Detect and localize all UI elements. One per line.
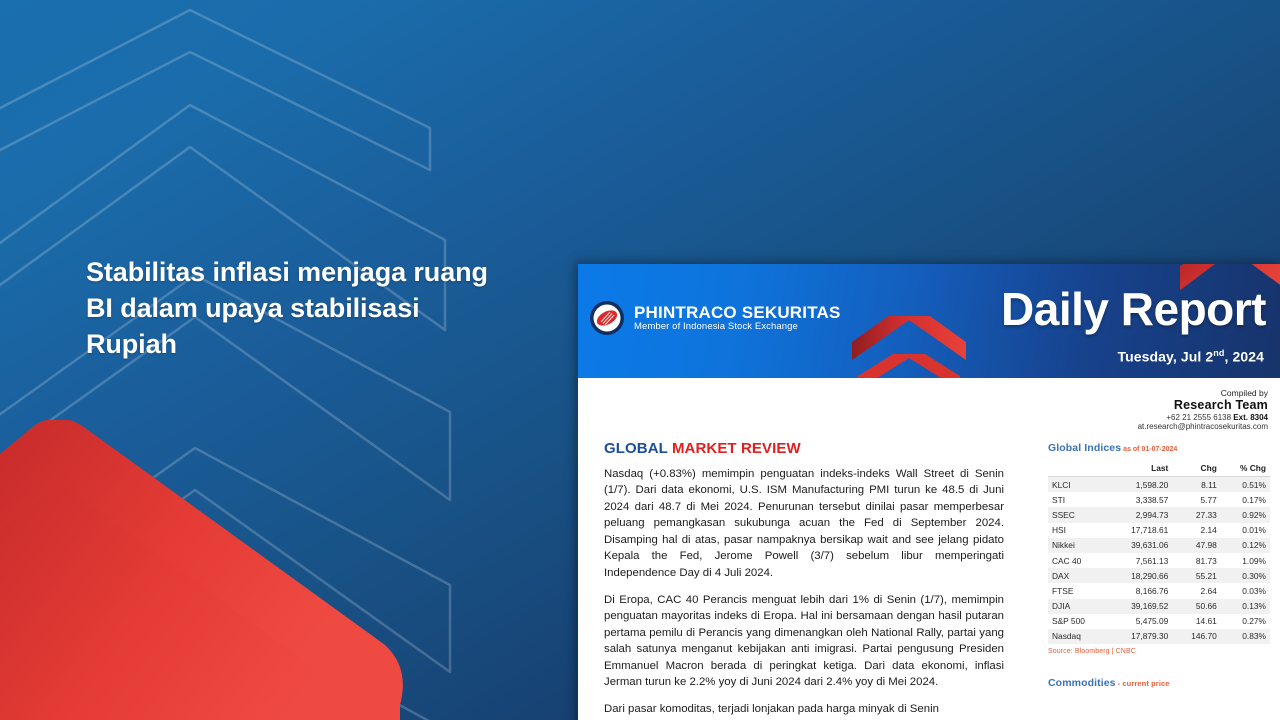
company-tagline: Member of Indonesia Stock Exchange xyxy=(634,322,841,332)
cell-last: 1,598.20 xyxy=(1107,477,1172,493)
cell-index-name: STI xyxy=(1048,492,1107,507)
indices-title-text: Global Indices xyxy=(1048,442,1121,454)
cell-pct: 0.01% xyxy=(1221,523,1270,538)
phone-extension: Ext. 8304 xyxy=(1233,413,1268,422)
cell-pct: 0.83% xyxy=(1221,629,1270,644)
global-indices-table: Last Chg % Chg KLCI1,598.208.110.51%STI3… xyxy=(1048,461,1270,644)
cell-pct: 0.03% xyxy=(1221,583,1270,598)
compiled-by-email: at.research@phintracosekuritas.com xyxy=(1138,422,1268,431)
document-header: PHINTRACO SEKURITAS Member of Indonesia … xyxy=(578,264,1280,378)
cell-chg: 2.64 xyxy=(1172,583,1221,598)
commodities-title-text: Commodities xyxy=(1048,677,1116,689)
cell-last: 17,879.30 xyxy=(1107,629,1172,644)
table-row: SSEC2,994.7327.330.92% xyxy=(1048,507,1270,522)
review-paragraph-1: Nasdaq (+0.83%) memimpin penguatan indek… xyxy=(604,466,1004,581)
cell-pct: 0.51% xyxy=(1221,477,1270,493)
cell-last: 39,169.52 xyxy=(1107,599,1172,614)
market-review-column: GLOBAL MARKET REVIEW Nasdaq (+0.83%) mem… xyxy=(604,440,1004,720)
indices-source: Source: Bloomberg | CNBC xyxy=(1048,648,1270,655)
report-date-ordinal: nd xyxy=(1213,348,1224,358)
document-body: Compiled by Research Team +62 21 2555 61… xyxy=(578,378,1280,720)
cell-chg: 27.33 xyxy=(1172,507,1221,522)
cell-chg: 5.77 xyxy=(1172,492,1221,507)
cell-chg: 14.61 xyxy=(1172,614,1221,629)
cell-chg: 8.11 xyxy=(1172,477,1221,493)
phone-number: +62 21 2555 6138 xyxy=(1166,413,1231,422)
cell-last: 39,631.06 xyxy=(1107,538,1172,553)
cell-last: 18,290.66 xyxy=(1107,568,1172,583)
commodities-title: Commodities- current price xyxy=(1048,677,1270,689)
review-paragraph-3: Dari pasar komoditas, terjadi lonjakan p… xyxy=(604,701,1004,717)
cell-index-name: Nasdaq xyxy=(1048,629,1107,644)
table-header-row: Last Chg % Chg xyxy=(1048,461,1270,477)
cell-index-name: CAC 40 xyxy=(1048,553,1107,568)
section-heading-primary: GLOBAL xyxy=(604,440,668,457)
header-chevron-icon-1 xyxy=(850,316,968,362)
cell-last: 3,338.57 xyxy=(1107,492,1172,507)
table-row: HSI17,718.612.140.01% xyxy=(1048,523,1270,538)
report-date: Tuesday, Jul 2nd, 2024 xyxy=(1117,348,1264,365)
cell-pct: 0.17% xyxy=(1221,492,1270,507)
table-row: KLCI1,598.208.110.51% xyxy=(1048,477,1270,493)
cell-chg: 55.21 xyxy=(1172,568,1221,583)
col-header-pct: % Chg xyxy=(1221,461,1270,477)
cell-index-name: SSEC xyxy=(1048,507,1107,522)
compiled-by-phone: +62 21 2555 6138 Ext. 8304 xyxy=(1138,413,1268,422)
phintraco-logo-icon xyxy=(589,300,625,336)
cell-index-name: HSI xyxy=(1048,523,1107,538)
review-paragraph-2: Di Eropa, CAC 40 Perancis menguat lebih … xyxy=(604,592,1004,691)
company-name: PHINTRACO SEKURITAS xyxy=(634,304,841,322)
cell-last: 5,475.09 xyxy=(1107,614,1172,629)
cell-index-name: S&P 500 xyxy=(1048,614,1107,629)
global-indices-column: Global Indicesas of 01-07-2024 Last Chg … xyxy=(1048,442,1270,689)
table-row: Nasdaq17,879.30146.700.83% xyxy=(1048,629,1270,644)
slide-headline: Stabilitas inflasi menjaga ruang BI dala… xyxy=(86,255,506,363)
compiled-by-team: Research Team xyxy=(1138,398,1268,413)
cell-pct: 0.92% xyxy=(1221,507,1270,522)
cell-last: 8,166.76 xyxy=(1107,583,1172,598)
cell-pct: 0.30% xyxy=(1221,568,1270,583)
cell-index-name: KLCI xyxy=(1048,477,1107,493)
table-row: STI3,338.575.770.17% xyxy=(1048,492,1270,507)
col-header-chg: Chg xyxy=(1172,461,1221,477)
cell-pct: 0.27% xyxy=(1221,614,1270,629)
cell-pct: 0.13% xyxy=(1221,599,1270,614)
daily-report-document[interactable]: PHINTRACO SEKURITAS Member of Indonesia … xyxy=(578,264,1280,720)
indices-as-of: as of 01-07-2024 xyxy=(1123,446,1177,453)
company-logo: PHINTRACO SEKURITAS Member of Indonesia … xyxy=(589,300,841,336)
slide-canvas: Stabilitas inflasi menjaga ruang BI dala… xyxy=(0,0,1280,720)
table-row: DAX18,290.6655.210.30% xyxy=(1048,568,1270,583)
report-date-suffix: , 2024 xyxy=(1224,349,1264,365)
table-row: FTSE8,166.762.640.03% xyxy=(1048,583,1270,598)
col-header-last: Last xyxy=(1107,461,1172,477)
table-row: Nikkei39,631.0647.980.12% xyxy=(1048,538,1270,553)
cell-chg: 146.70 xyxy=(1172,629,1221,644)
cell-chg: 81.73 xyxy=(1172,553,1221,568)
cell-chg: 2.14 xyxy=(1172,523,1221,538)
compiled-by-label: Compiled by xyxy=(1138,388,1268,398)
report-title: Daily Report xyxy=(1001,286,1266,332)
report-date-prefix: Tuesday, Jul 2 xyxy=(1117,349,1213,365)
cell-last: 2,994.73 xyxy=(1107,507,1172,522)
header-chevron-icon-2 xyxy=(856,354,962,378)
cell-index-name: FTSE xyxy=(1048,583,1107,598)
cell-pct: 1.09% xyxy=(1221,553,1270,568)
cell-index-name: Nikkei xyxy=(1048,538,1107,553)
cell-index-name: DJIA xyxy=(1048,599,1107,614)
cell-chg: 47.98 xyxy=(1172,538,1221,553)
red-chevron-shape xyxy=(0,420,460,720)
cell-last: 17,718.61 xyxy=(1107,523,1172,538)
cell-index-name: DAX xyxy=(1048,568,1107,583)
col-header-name xyxy=(1048,461,1107,477)
section-heading-secondary: MARKET REVIEW xyxy=(672,440,801,457)
indices-table-title: Global Indicesas of 01-07-2024 xyxy=(1048,442,1270,454)
cell-last: 7,561.13 xyxy=(1107,553,1172,568)
cell-pct: 0.12% xyxy=(1221,538,1270,553)
section-heading: GLOBAL MARKET REVIEW xyxy=(604,440,1004,457)
table-row: S&P 5005,475.0914.610.27% xyxy=(1048,614,1270,629)
table-row: DJIA39,169.5250.660.13% xyxy=(1048,599,1270,614)
compiled-by-block: Compiled by Research Team +62 21 2555 61… xyxy=(1138,388,1268,432)
table-row: CAC 407,561.1381.731.09% xyxy=(1048,553,1270,568)
commodities-subtitle: - current price xyxy=(1118,679,1170,688)
cell-chg: 50.66 xyxy=(1172,599,1221,614)
